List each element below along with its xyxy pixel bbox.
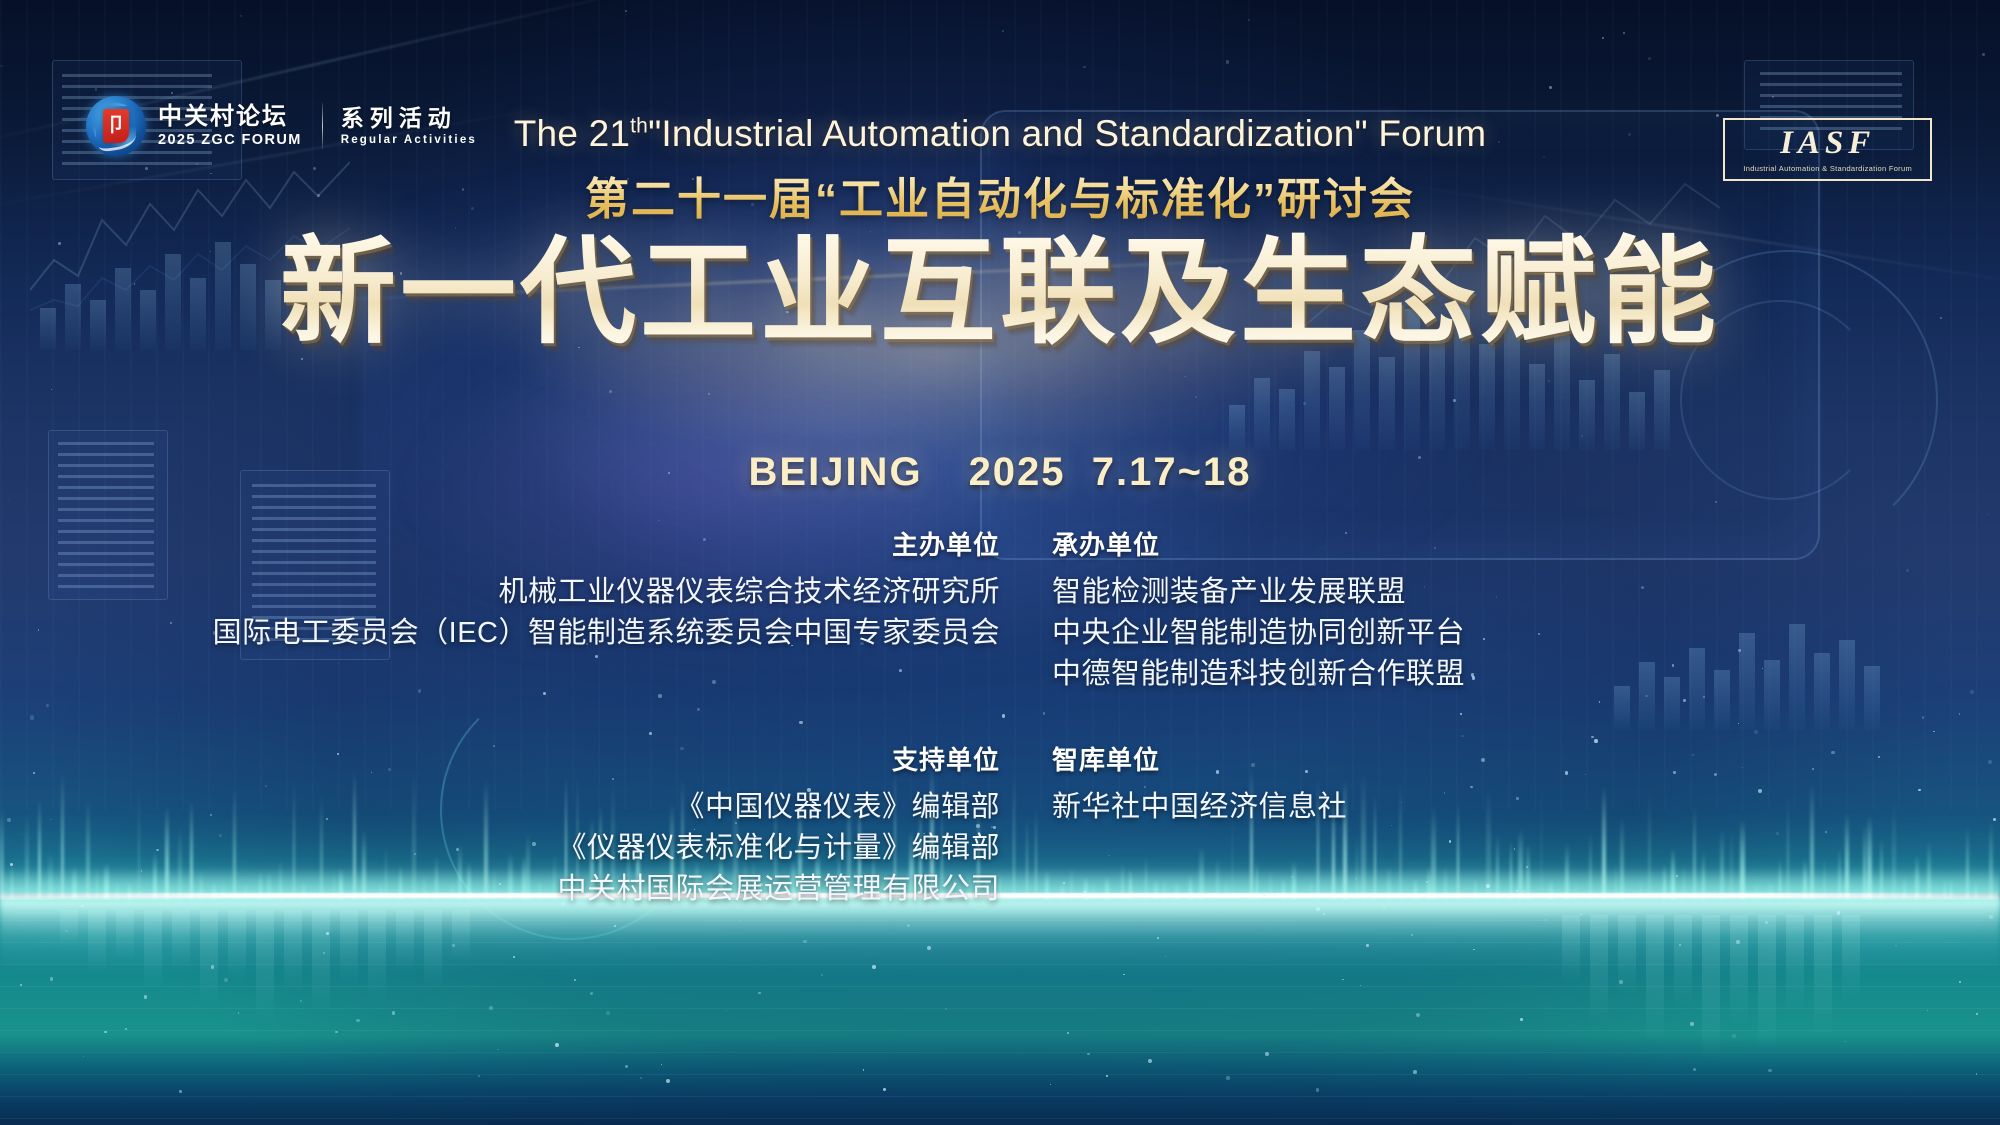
organizer-item: 《中国仪器仪表》编辑部 — [557, 787, 1000, 828]
reflection-grid — [0, 920, 2000, 1125]
event-city: BEIJING — [749, 450, 923, 494]
bar-chart-graphic-far — [1614, 620, 1880, 730]
organizer-heading: 智库单位 — [1052, 740, 1347, 777]
organizer-block-2: 承办单位智能检测装备产业发展联盟中央企业智能制造协同创新平台中德智能制造科技创新… — [1052, 525, 1465, 696]
title-en-ordinal: th — [630, 115, 648, 138]
organizer-item: 机械工业仪器仪表综合技术经济研究所 — [213, 572, 1000, 613]
light-spikes — [0, 760, 2000, 900]
reflection-shine — [0, 900, 2000, 970]
forum-title-english: The 21th"Industrial Automation and Stand… — [0, 113, 2000, 155]
title-en-rest: "Industrial Automation and Standardizati… — [648, 113, 1486, 154]
conference-poster: 中关村论坛 2025 ZGC FORUM 系列活动 Regular Activi… — [0, 0, 2000, 1125]
organizer-block-4: 智库单位新华社中国经济信息社 — [1052, 740, 1347, 828]
reflection-area — [0, 900, 2000, 1125]
reflection-bars-2 — [1562, 915, 1860, 1065]
organizer-item: 《仪器仪表标准化与计量》编辑部 — [557, 828, 1000, 869]
event-days: 7.17~18 — [1092, 450, 1252, 494]
poster-main-title: 新一代工业互联及生态赋能 — [0, 198, 2000, 366]
title-en-prefix: The 21 — [514, 113, 630, 154]
organizer-item: 智能检测装备产业发展联盟 — [1052, 572, 1465, 613]
organizer-block-3: 支持单位《中国仪器仪表》编辑部《仪器仪表标准化与计量》编辑部中关村国际会展运营管… — [557, 740, 1000, 911]
organizer-heading: 支持单位 — [557, 740, 1000, 777]
event-year: 2025 — [969, 450, 1066, 494]
organizer-item: 中关村国际会展运营管理有限公司 — [557, 869, 1000, 910]
organizer-item: 国际电工委员会（IEC）智能制造系统委员会中国专家委员会 — [213, 613, 1000, 654]
organizer-item: 中德智能制造科技创新合作联盟 — [1052, 654, 1465, 695]
event-date-location: BEIJING2025 7.17~18 — [0, 450, 2000, 495]
organizer-block-1: 主办单位机械工业仪器仪表综合技术经济研究所国际电工委员会（IEC）智能制造系统委… — [213, 525, 1000, 654]
horizon-glow — [0, 868, 2000, 920]
organizer-item: 新华社中国经济信息社 — [1052, 787, 1347, 828]
horizon-core-line — [0, 893, 2000, 898]
organizer-heading: 主办单位 — [213, 525, 1000, 562]
reflection-bars — [60, 910, 470, 1030]
organizer-item: 中央企业智能制造协同创新平台 — [1052, 613, 1465, 654]
organizer-heading: 承办单位 — [1052, 525, 1465, 562]
